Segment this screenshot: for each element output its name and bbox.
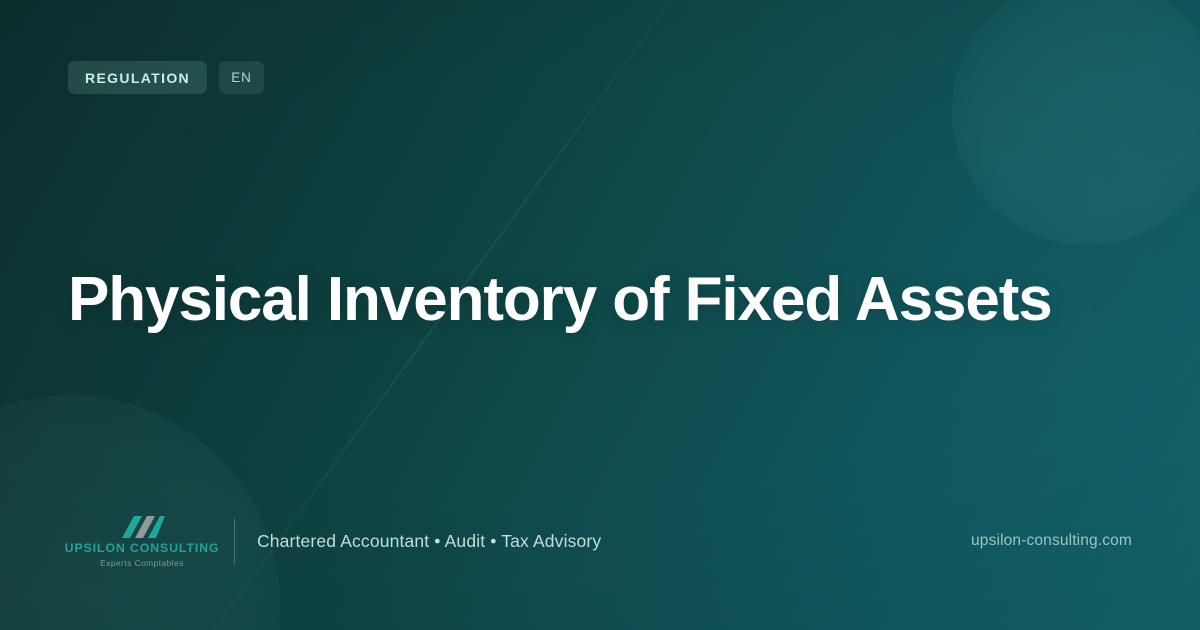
upsilon-slashes-icon [119, 514, 165, 540]
page-title: Physical Inventory of Fixed Assets [68, 266, 1088, 334]
decorative-glow-bottom-left [0, 395, 280, 630]
logo: UPSILON CONSULTING Experts Comptables [68, 514, 216, 568]
logo-company-name: UPSILON CONSULTING [65, 542, 220, 556]
category-badge[interactable]: REGULATION [68, 61, 207, 94]
social-share-card: REGULATION EN Physical Inventory of Fixe… [0, 0, 1200, 630]
footer: UPSILON CONSULTING Experts Comptables Ch… [68, 514, 1132, 568]
footer-brand-group: UPSILON CONSULTING Experts Comptables Ch… [68, 514, 601, 568]
footer-website-url[interactable]: upsilon-consulting.com [971, 532, 1132, 550]
language-badge[interactable]: EN [219, 61, 264, 94]
footer-tagline: Chartered Accountant • Audit • Tax Advis… [257, 531, 601, 552]
decorative-glow-top-right [952, 0, 1200, 245]
footer-divider [234, 518, 235, 565]
logo-subtitle: Experts Comptables [100, 559, 184, 568]
badge-row: REGULATION EN [68, 61, 264, 94]
